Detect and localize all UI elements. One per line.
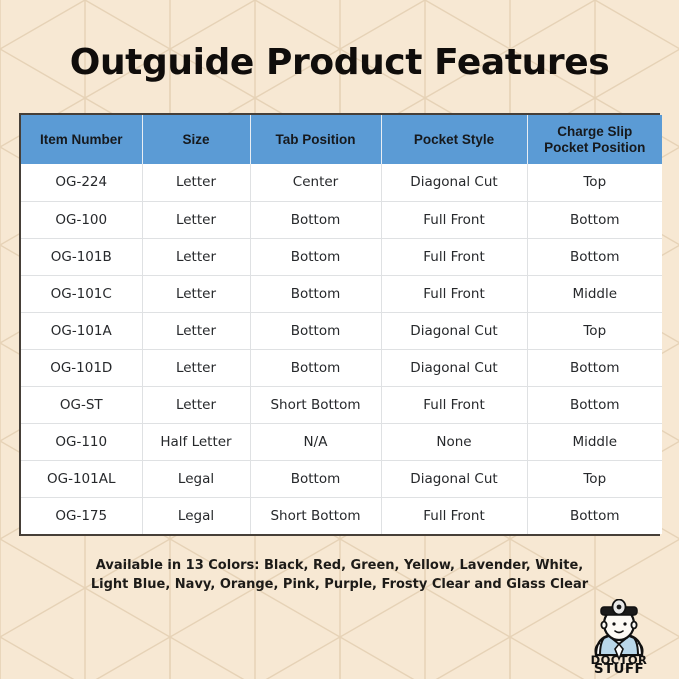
- table-header-row: Item Number Size Tab Position Pocket Sty…: [21, 115, 662, 164]
- cell-pocket-style: Full Front: [381, 275, 527, 312]
- cell-pocket-style: Full Front: [381, 238, 527, 275]
- cell-pocket-style: Diagonal Cut: [381, 349, 527, 386]
- charge-slip-line-2: Pocket Position: [544, 140, 645, 155]
- cell-size: Letter: [142, 201, 250, 238]
- table-row: OG-101CLetterBottomFull FrontMiddle: [21, 275, 662, 312]
- cell-pocket-style: Diagonal Cut: [381, 164, 527, 201]
- cell-tab-position: Bottom: [250, 460, 381, 497]
- table-row: OG-101BLetterBottomFull FrontBottom: [21, 238, 662, 275]
- cell-size: Legal: [142, 460, 250, 497]
- cell-tab-position: Bottom: [250, 312, 381, 349]
- table-row: OG-175LegalShort BottomFull FrontBottom: [21, 497, 662, 534]
- charge-slip-line-1: Charge Slip: [557, 124, 632, 139]
- cell-size: Legal: [142, 497, 250, 534]
- cell-pocket-style: Full Front: [381, 386, 527, 423]
- cell-tab-position: Bottom: [250, 275, 381, 312]
- cell-size: Half Letter: [142, 423, 250, 460]
- cell-item-number: OG-101B: [21, 238, 142, 275]
- cell-tab-position: Bottom: [250, 238, 381, 275]
- cell-charge-slip-pocket-position: Bottom: [527, 349, 662, 386]
- cell-size: Letter: [142, 312, 250, 349]
- cell-tab-position: Short Bottom: [250, 497, 381, 534]
- product-features-table: Item Number Size Tab Position Pocket Sty…: [19, 113, 660, 536]
- column-header-item-number: Item Number: [21, 115, 142, 164]
- cell-size: Letter: [142, 349, 250, 386]
- cell-item-number: OG-224: [21, 164, 142, 201]
- table-row: OG-110Half LetterN/ANoneMiddle: [21, 423, 662, 460]
- cell-pocket-style: Full Front: [381, 201, 527, 238]
- cell-item-number: OG-175: [21, 497, 142, 534]
- column-header-size: Size: [142, 115, 250, 164]
- cell-tab-position: Short Bottom: [250, 386, 381, 423]
- cell-tab-position: Center: [250, 164, 381, 201]
- table-row: OG-101DLetterBottomDiagonal CutBottom: [21, 349, 662, 386]
- cell-charge-slip-pocket-position: Top: [527, 460, 662, 497]
- logo-word-stuff: STUFF: [594, 661, 644, 673]
- cell-charge-slip-pocket-position: Bottom: [527, 386, 662, 423]
- cell-charge-slip-pocket-position: Bottom: [527, 497, 662, 534]
- cell-pocket-style: Full Front: [381, 497, 527, 534]
- cell-item-number: OG-101A: [21, 312, 142, 349]
- column-header-tab-position: Tab Position: [250, 115, 381, 164]
- cell-charge-slip-pocket-position: Bottom: [527, 238, 662, 275]
- colors-note-line-2: Orange, Pink, Purple, Frosty Clear and G…: [220, 577, 588, 592]
- cell-tab-position: N/A: [250, 423, 381, 460]
- cell-item-number: OG-110: [21, 423, 142, 460]
- page-title: Outguide Product Features: [0, 42, 679, 83]
- doctor-stuff-logo: DOCTOR STUFF: [573, 599, 665, 673]
- cell-size: Letter: [142, 275, 250, 312]
- cell-tab-position: Bottom: [250, 201, 381, 238]
- cell-tab-position: Bottom: [250, 349, 381, 386]
- cell-item-number: OG-101AL: [21, 460, 142, 497]
- cell-item-number: OG-101C: [21, 275, 142, 312]
- column-header-charge-slip-pocket-position: Charge Slip Pocket Position: [527, 115, 662, 164]
- table-row: OG-101ALLegalBottomDiagonal CutTop: [21, 460, 662, 497]
- table-row: OG-100LetterBottomFull FrontBottom: [21, 201, 662, 238]
- cell-charge-slip-pocket-position: Top: [527, 312, 662, 349]
- cell-size: Letter: [142, 238, 250, 275]
- cell-charge-slip-pocket-position: Middle: [527, 423, 662, 460]
- cell-charge-slip-pocket-position: Bottom: [527, 201, 662, 238]
- cell-charge-slip-pocket-position: Middle: [527, 275, 662, 312]
- table-row: OG-224LetterCenterDiagonal CutTop: [21, 164, 662, 201]
- cell-item-number: OG-100: [21, 201, 142, 238]
- table-row: OG-101ALetterBottomDiagonal CutTop: [21, 312, 662, 349]
- cell-item-number: OG-ST: [21, 386, 142, 423]
- cell-size: Letter: [142, 164, 250, 201]
- colors-availability-note: Available in 13 Colors: Black, Red, Gree…: [80, 557, 599, 595]
- cell-pocket-style: None: [381, 423, 527, 460]
- cell-item-number: OG-101D: [21, 349, 142, 386]
- cell-pocket-style: Diagonal Cut: [381, 460, 527, 497]
- cell-size: Letter: [142, 386, 250, 423]
- cell-charge-slip-pocket-position: Top: [527, 164, 662, 201]
- column-header-pocket-style: Pocket Style: [381, 115, 527, 164]
- table-row: OG-STLetterShort BottomFull FrontBottom: [21, 386, 662, 423]
- cell-pocket-style: Diagonal Cut: [381, 312, 527, 349]
